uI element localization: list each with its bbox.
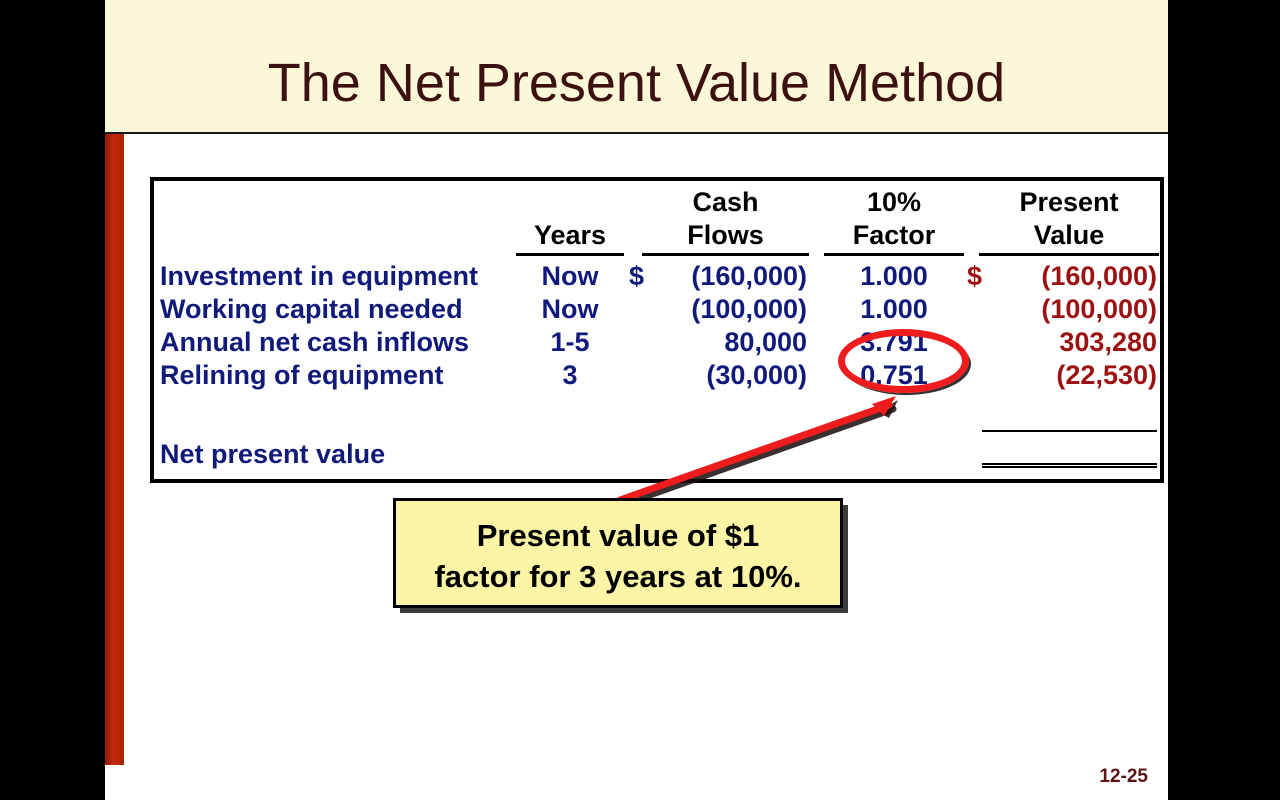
row-cash-flow: (160,000) (644, 261, 807, 292)
total-row-label: Net present value (160, 439, 385, 470)
slide-number: 12-25 (1058, 766, 1148, 788)
npv-table: Cash 10% Present Years Flows Factor Valu… (150, 177, 1164, 483)
row-present-value: (22,530) (982, 360, 1157, 391)
row-label: Annual net cash inflows (160, 327, 469, 358)
row-years: 3 (516, 360, 624, 391)
page-title: The Net Present Value Method (105, 52, 1168, 114)
header-factor-line1: 10% (824, 187, 964, 218)
row-label: Working capital needed (160, 294, 463, 325)
accent-bar (105, 134, 124, 765)
row-label: Investment in equipment (160, 261, 478, 292)
row-years: Now (516, 294, 624, 325)
slide-title-band: The Net Present Value Method (105, 0, 1168, 134)
header-rule-present-value (979, 253, 1159, 256)
total-rule-single (982, 430, 1157, 432)
row-factor: 1.000 (824, 294, 964, 325)
highlight-ellipse-icon (838, 329, 969, 393)
callout-text: Present value of $1 factor for 3 years a… (396, 515, 840, 597)
row-label: Relining of equipment (160, 360, 444, 391)
row-present-value: (100,000) (982, 294, 1157, 325)
row-cash-flow-symbol: $ (606, 261, 644, 292)
callout-line-1: Present value of $1 (396, 515, 840, 556)
row-cash-flow: (30,000) (644, 360, 807, 391)
header-rule-cash-flows (642, 253, 809, 256)
header-present-value-line1: Present (979, 187, 1159, 218)
row-present-value: 303,280 (982, 327, 1157, 358)
header-factor-line2: Factor (824, 220, 964, 251)
row-cash-flow: 80,000 (644, 327, 807, 358)
callout-box: Present value of $1 factor for 3 years a… (393, 498, 843, 608)
slide-root: The Net Present Value Method Cash 10% Pr… (0, 0, 1280, 800)
callout-line-2: factor for 3 years at 10%. (396, 556, 840, 597)
row-present-value-symbol: $ (944, 261, 982, 292)
header-rule-years (516, 253, 624, 256)
header-rule-factor (824, 253, 964, 256)
header-present-value-line2: Value (979, 220, 1159, 251)
row-cash-flow: (100,000) (644, 294, 807, 325)
row-years: 1-5 (516, 327, 624, 358)
header-cash-flows-line1: Cash (642, 187, 809, 218)
total-rule-double (982, 463, 1157, 468)
row-factor: 1.000 (824, 261, 964, 292)
header-years: Years (516, 220, 624, 251)
row-present-value: (160,000) (982, 261, 1157, 292)
header-cash-flows-line2: Flows (642, 220, 809, 251)
